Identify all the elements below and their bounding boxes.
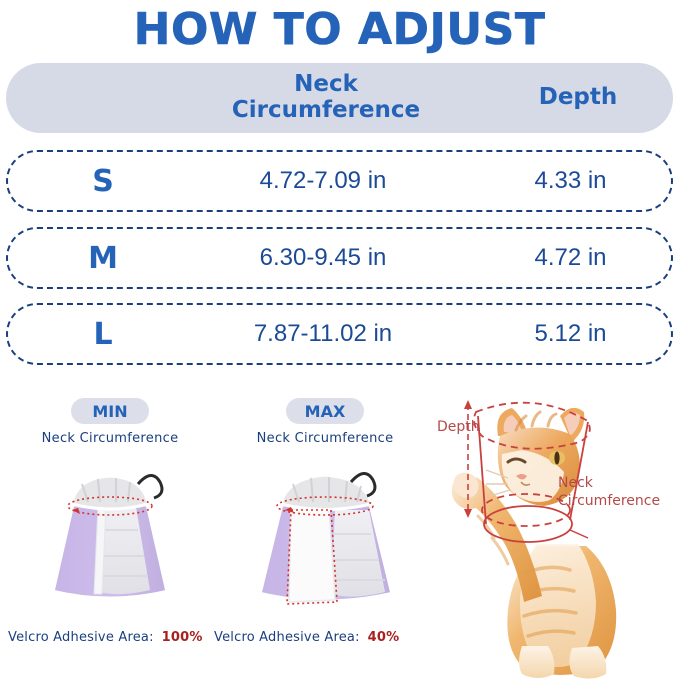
label-neck-line1: Neck	[558, 474, 660, 492]
label-depth: Depth	[437, 419, 480, 435]
cell-depth: 5.12 in	[488, 305, 653, 363]
velcro-max-label: Velcro Adhesive Area:	[214, 630, 360, 645]
velcro-area-min: Velcro Adhesive Area:100%	[8, 630, 203, 645]
velcro-max-value: 40%	[368, 630, 400, 645]
cone-min-svg	[10, 452, 210, 617]
cell-size: S	[48, 152, 158, 210]
cell-depth: 4.72 in	[488, 229, 653, 287]
panel-max: MAX Neck Circumference	[225, 398, 425, 617]
how-to-adjust-infographic: HOW TO ADJUST Neck Circumference Depth S…	[0, 0, 679, 685]
page-title: HOW TO ADJUST	[0, 4, 679, 55]
table-row: M 6.30-9.45 in 4.72 in	[6, 227, 673, 289]
velcro-min-label: Velcro Adhesive Area:	[8, 630, 154, 645]
label-neck-circumference: Neck Circumference	[558, 474, 660, 510]
cone-illustration-min	[10, 452, 210, 617]
panel-min-caption: Neck Circumference	[10, 431, 210, 446]
cell-neck-circumference: 4.72-7.09 in	[178, 152, 468, 210]
panel-max-caption: Neck Circumference	[225, 431, 425, 446]
velcro-min-value: 100%	[162, 630, 203, 645]
cell-size: M	[48, 229, 158, 287]
column-header-depth: Depth	[498, 84, 658, 110]
column-header-neck-line2: Circumference	[186, 97, 466, 123]
column-header-neck-line1: Neck	[186, 71, 466, 97]
cell-neck-circumference: 6.30-9.45 in	[178, 229, 468, 287]
panel-min: MIN Neck Circumference	[10, 398, 210, 617]
cat-illustration-svg	[420, 396, 679, 685]
velcro-area-max: Velcro Adhesive Area:40%	[214, 630, 399, 645]
table-row: S 4.72-7.09 in 4.33 in	[6, 150, 673, 212]
cell-neck-circumference: 7.87-11.02 in	[178, 305, 468, 363]
table-row: L 7.87-11.02 in 5.12 in	[6, 303, 673, 365]
cone-illustration-max	[225, 452, 425, 617]
cat-measurement-diagram: Depth Neck Circumference	[420, 396, 679, 685]
cone-max-svg	[225, 452, 425, 617]
label-neck-line2: Circumference	[558, 492, 660, 510]
cell-size: L	[48, 305, 158, 363]
table-header-band: Neck Circumference Depth	[6, 63, 673, 133]
badge-max: MAX	[286, 398, 364, 424]
badge-min: MIN	[71, 398, 149, 424]
column-header-neck-circumference: Neck Circumference	[186, 71, 466, 123]
cell-depth: 4.33 in	[488, 152, 653, 210]
